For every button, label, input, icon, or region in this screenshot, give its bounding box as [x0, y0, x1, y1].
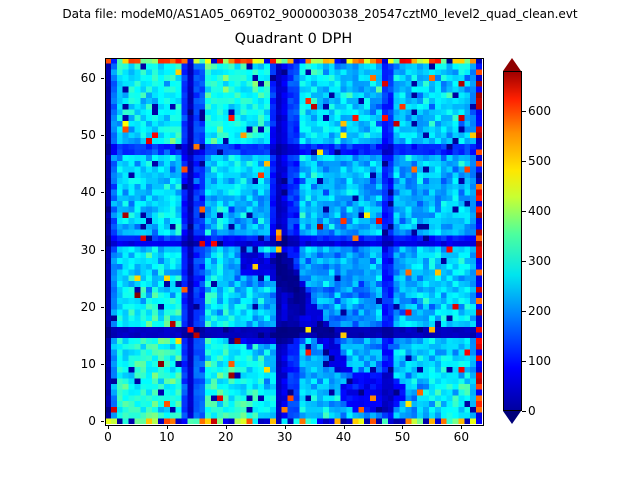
x-tick-label: 0 [104, 430, 112, 444]
colorbar-tick-mark [522, 361, 526, 362]
colorbar-tick-mark [522, 111, 526, 112]
colorbar-gradient [503, 71, 522, 411]
y-tick-label: 60 [63, 71, 96, 85]
colorbar-tick-mark [522, 211, 526, 212]
colorbar-tick-mark [522, 311, 526, 312]
y-tick-label: 20 [63, 300, 96, 314]
y-tick-mark [101, 421, 105, 422]
colorbar[interactable]: 0100200300400500600 [503, 58, 522, 424]
x-tick-label: 30 [277, 430, 292, 444]
x-tick-mark [402, 425, 403, 429]
y-tick-mark [101, 307, 105, 308]
colorbar-tick-label: 100 [528, 354, 551, 368]
colorbar-tick-mark [522, 261, 526, 262]
y-tick-label: 50 [63, 128, 96, 142]
colorbar-tick-label: 400 [528, 204, 551, 218]
x-tick-label: 10 [159, 430, 174, 444]
y-tick-label: 30 [63, 243, 96, 257]
y-tick-mark [101, 364, 105, 365]
matplotlib-figure: Data file: modeM0/AS1A05_069T02_90000030… [0, 0, 640, 480]
page-title: Quadrant 0 DPH [105, 30, 482, 48]
colorbar-extend-max-arrow [503, 58, 521, 71]
x-tick-label: 40 [336, 430, 351, 444]
heatmap-axes[interactable] [105, 58, 482, 424]
y-tick-label: 10 [63, 357, 96, 371]
data-file-suptitle: Data file: modeM0/AS1A05_069T02_90000030… [0, 7, 640, 21]
x-tick-mark [344, 425, 345, 429]
colorbar-extend-min-arrow [503, 411, 521, 424]
colorbar-tick-mark [522, 411, 526, 412]
y-tick-mark [101, 250, 105, 251]
y-tick-mark [101, 192, 105, 193]
y-tick-label: 0 [63, 414, 96, 428]
y-tick-label: 40 [63, 185, 96, 199]
x-tick-mark [285, 425, 286, 429]
colorbar-tick-label: 500 [528, 154, 551, 168]
colorbar-tick-label: 300 [528, 254, 551, 268]
x-tick-mark [108, 425, 109, 429]
x-tick-mark [226, 425, 227, 429]
colorbar-tick-label: 600 [528, 104, 551, 118]
y-tick-mark [101, 78, 105, 79]
x-tick-mark [167, 425, 168, 429]
x-tick-mark [461, 425, 462, 429]
colorbar-tick-label: 0 [528, 404, 536, 418]
y-tick-mark [101, 135, 105, 136]
colorbar-tick-label: 200 [528, 304, 551, 318]
x-tick-label: 20 [218, 430, 233, 444]
detector-pixel-heatmap[interactable] [105, 58, 482, 424]
colorbar-tick-mark [522, 161, 526, 162]
x-tick-label: 60 [454, 430, 469, 444]
x-tick-label: 50 [395, 430, 410, 444]
